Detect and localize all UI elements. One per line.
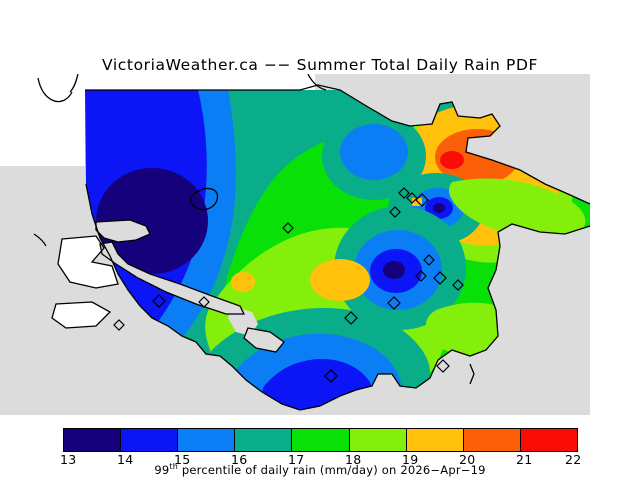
colorbar-caption: 99th percentile of daily rain (mm/day) o… — [0, 462, 640, 477]
map-svg — [0, 74, 640, 420]
outside-domain-top — [85, 74, 315, 90]
page-title: VictoriaWeather.ca −− Summer Total Daily… — [0, 56, 640, 74]
colorbar-band-15-16[interactable] — [178, 429, 235, 451]
contour-band-13-14-east — [383, 261, 405, 279]
contour-map — [0, 74, 640, 420]
colorbar[interactable] — [63, 428, 578, 452]
colorbar-band-17-18[interactable] — [292, 429, 349, 451]
contour-band-15-16-north — [340, 124, 408, 180]
contour-band-19-20-inland — [310, 259, 370, 301]
outside-domain-upper-left — [0, 74, 85, 166]
outside-domain-right — [590, 74, 640, 420]
colorbar-band-19-20[interactable] — [407, 429, 464, 451]
colorbar-band-20-21[interactable] — [464, 429, 521, 451]
colorbar-band-16-17[interactable] — [235, 429, 292, 451]
colorbar-band-18-19[interactable] — [350, 429, 407, 451]
colorbar-band-21-22[interactable] — [521, 429, 577, 451]
weather-map-page: VictoriaWeather.ca −− Summer Total Daily… — [0, 0, 640, 480]
colorbar-caption-prefix: 99 — [154, 463, 169, 477]
contour-band-21-22-core — [440, 151, 464, 169]
colorbar-caption-superscript: th — [169, 462, 178, 471]
colorbar-band-14-15[interactable] — [121, 429, 178, 451]
colorbar-band-13-14[interactable] — [64, 429, 121, 451]
outside-domain-bottom — [0, 415, 640, 420]
contour-band-19-20-west-patch — [231, 272, 255, 292]
contour-band-13-14-ne-inset — [433, 203, 445, 213]
colorbar-caption-rest: percentile of daily rain (mm/day) on 202… — [178, 463, 486, 477]
